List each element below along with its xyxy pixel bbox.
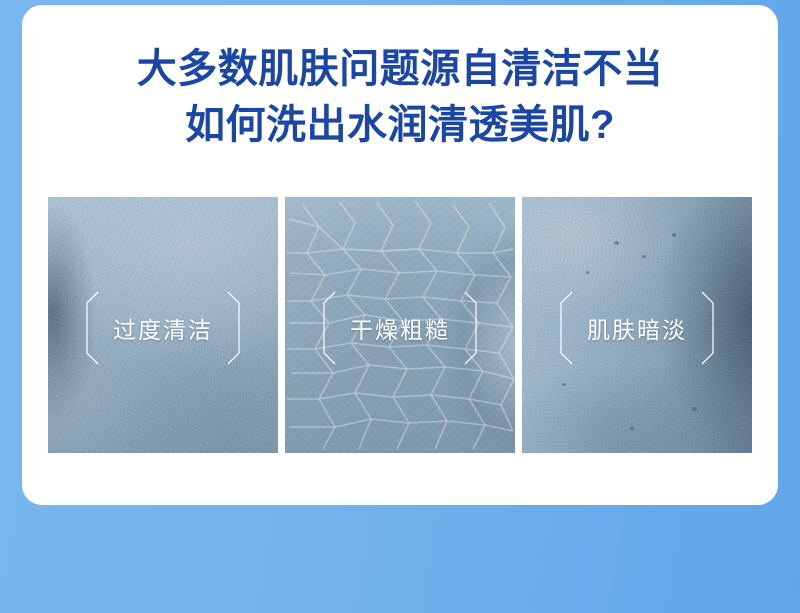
skin-spot <box>692 407 697 411</box>
bracket-left-icon <box>322 291 336 365</box>
problem-panel-over-cleansing[interactable]: 过度清洁 <box>48 197 278 453</box>
panel-caption-3: 肌肤暗淡 <box>522 291 752 365</box>
bracket-left-icon <box>85 291 99 365</box>
headline-line-2: 如何洗出水润清透美肌? <box>22 97 778 153</box>
problem-panel-dry-rough[interactable]: 干燥粗糙 <box>285 197 515 453</box>
content-card: 大多数肌肤问题源自清洁不当 如何洗出水润清透美肌? 过度清洁 <box>22 5 778 505</box>
panel-caption-label-1: 过度清洁 <box>99 311 227 345</box>
problem-panel-row: 过度清洁 <box>48 197 752 453</box>
promo-banner: 大多数肌肤问题源自清洁不当 如何洗出水润清透美肌? 过度清洁 <box>0 0 800 613</box>
skin-spot <box>630 427 634 430</box>
bracket-left-icon <box>559 291 573 365</box>
page-title: 大多数肌肤问题源自清洁不当 如何洗出水润清透美肌? <box>22 41 778 153</box>
problem-panel-dull-skin[interactable]: 肌肤暗淡 <box>522 197 752 453</box>
skin-spot <box>642 255 646 258</box>
bracket-right-icon <box>464 291 478 365</box>
bracket-right-icon <box>227 291 241 365</box>
skin-spot <box>586 271 589 274</box>
skin-spot <box>614 241 619 245</box>
panel-caption-2: 干燥粗糙 <box>285 291 515 365</box>
headline-line-1: 大多数肌肤问题源自清洁不当 <box>22 41 778 97</box>
skin-spot <box>562 383 566 386</box>
panel-caption-label-3: 肌肤暗淡 <box>573 311 701 345</box>
panel-caption-label-2: 干燥粗糙 <box>336 311 464 345</box>
skin-spot <box>672 233 676 237</box>
panel-caption-1: 过度清洁 <box>48 291 278 365</box>
bracket-right-icon <box>701 291 715 365</box>
